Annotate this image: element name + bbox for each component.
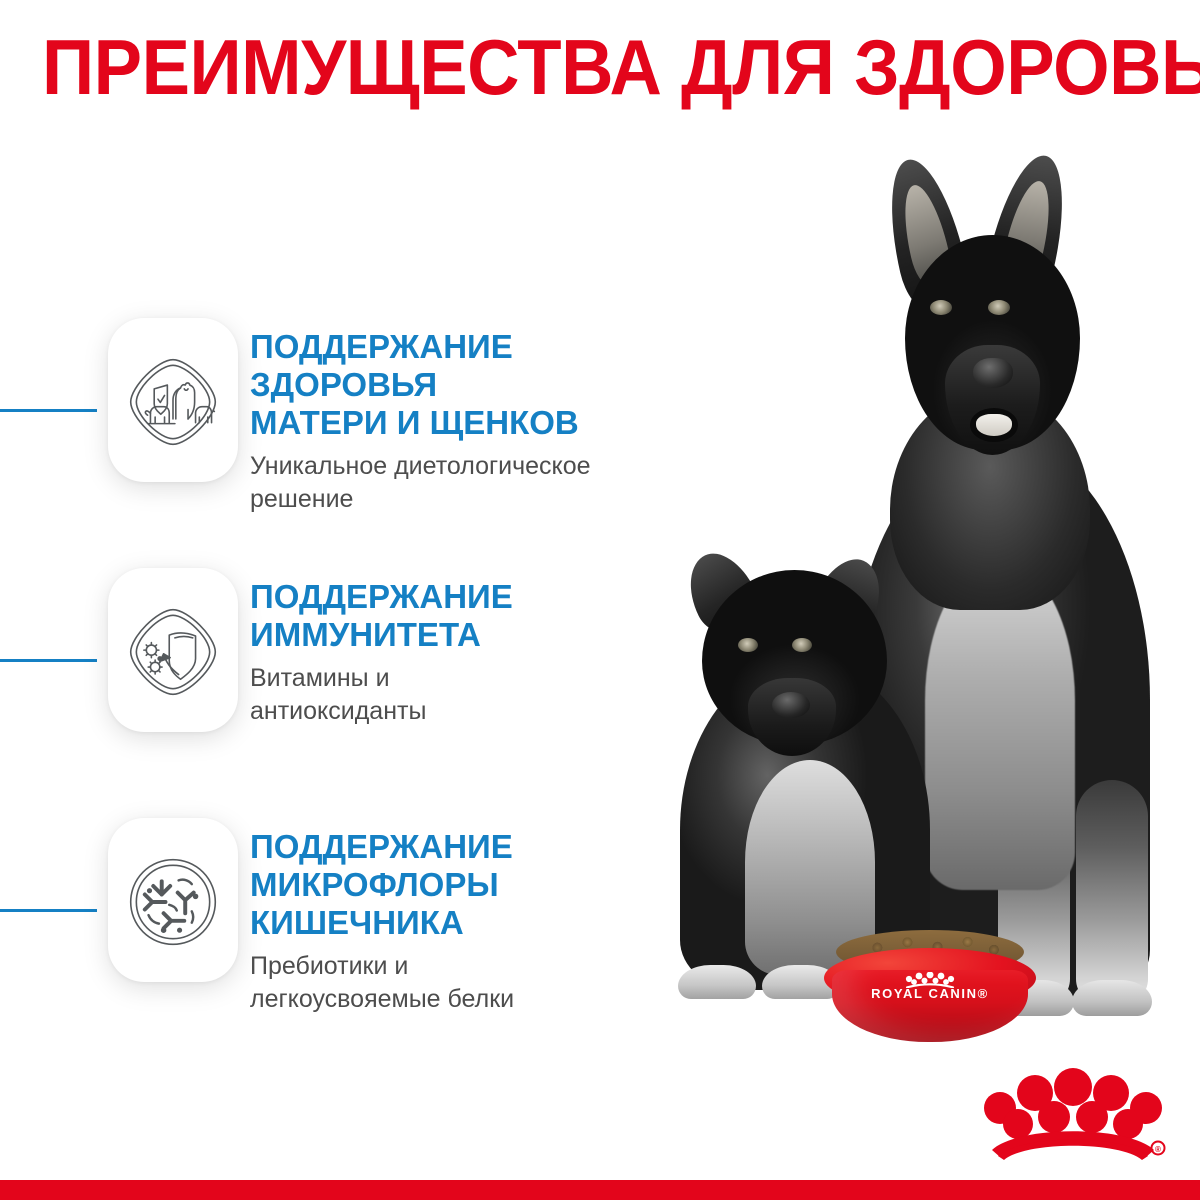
adult-dog-eye [988, 300, 1010, 315]
benefit-text-1: ПОДДЕРЖАНИЕ ЗДОРОВЬЯ МАТЕРИ И ЩЕНКОВ Уни… [250, 328, 680, 516]
puppy-nose [772, 692, 810, 718]
connector-line-2 [0, 659, 97, 662]
bottom-red-bar [0, 1180, 1200, 1200]
registered-mark: ® [1155, 1145, 1161, 1154]
product-photo-area: ROYAL CANIN® [630, 140, 1200, 1070]
immunity-shield-germs-icon [126, 605, 220, 699]
bowl-brand-label: ROYAL CANIN® [810, 986, 1050, 1001]
puppy-eye [738, 638, 758, 652]
benefit-heading-2: ПОДДЕРЖАНИЕ ИММУНИТЕТА [250, 578, 680, 654]
benefit-subtext-2: Витамины и антиоксиданты [250, 662, 680, 728]
mother-and-puppies-shield-icon [126, 355, 220, 449]
benefit-text-2: ПОДДЕРЖАНИЕ ИММУНИТЕТА Витамины и антиок… [250, 578, 680, 728]
adult-dog-paw [1072, 980, 1152, 1016]
adult-dog-teeth [976, 414, 1012, 436]
puppy-eye [792, 638, 812, 652]
benefit-subtext-1: Уникальное диетологическое решение [250, 450, 680, 516]
gut-microflora-bacteria-icon [126, 855, 220, 949]
benefit-text-3: ПОДДЕРЖАНИЕ МИКРОФЛОРЫ КИШЕЧНИКА Пребиот… [250, 828, 680, 1016]
benefit-heading-3: ПОДДЕРЖАНИЕ МИКРОФЛОРЫ КИШЕЧНИКА [250, 828, 680, 942]
benefit-subtext-3: Пребиотики и легкоусвояемые белки [250, 950, 680, 1016]
adult-dog-eye [930, 300, 952, 315]
royal-canin-crown-logo: ® [978, 1062, 1168, 1160]
marketing-banner: ПРЕИМУЩЕСТВА ДЛЯ ЗДОРОВЬЯ [0, 0, 1200, 1200]
connector-line-3 [0, 909, 97, 912]
dog-food-bowl: ROYAL CANIN® [810, 930, 1050, 1050]
benefit-card-2 [108, 568, 238, 732]
benefit-card-3 [108, 818, 238, 982]
benefit-heading-1: ПОДДЕРЖАНИЕ ЗДОРОВЬЯ МАТЕРИ И ЩЕНКОВ [250, 328, 680, 442]
connector-line-1 [0, 409, 97, 412]
page-title: ПРЕИМУЩЕСТВА ДЛЯ ЗДОРОВЬЯ [42, 24, 1158, 110]
adult-dog-nose [973, 358, 1013, 388]
benefit-card-1 [108, 318, 238, 482]
adult-dog-leg [1076, 780, 1148, 1005]
puppy-paw [678, 965, 756, 999]
